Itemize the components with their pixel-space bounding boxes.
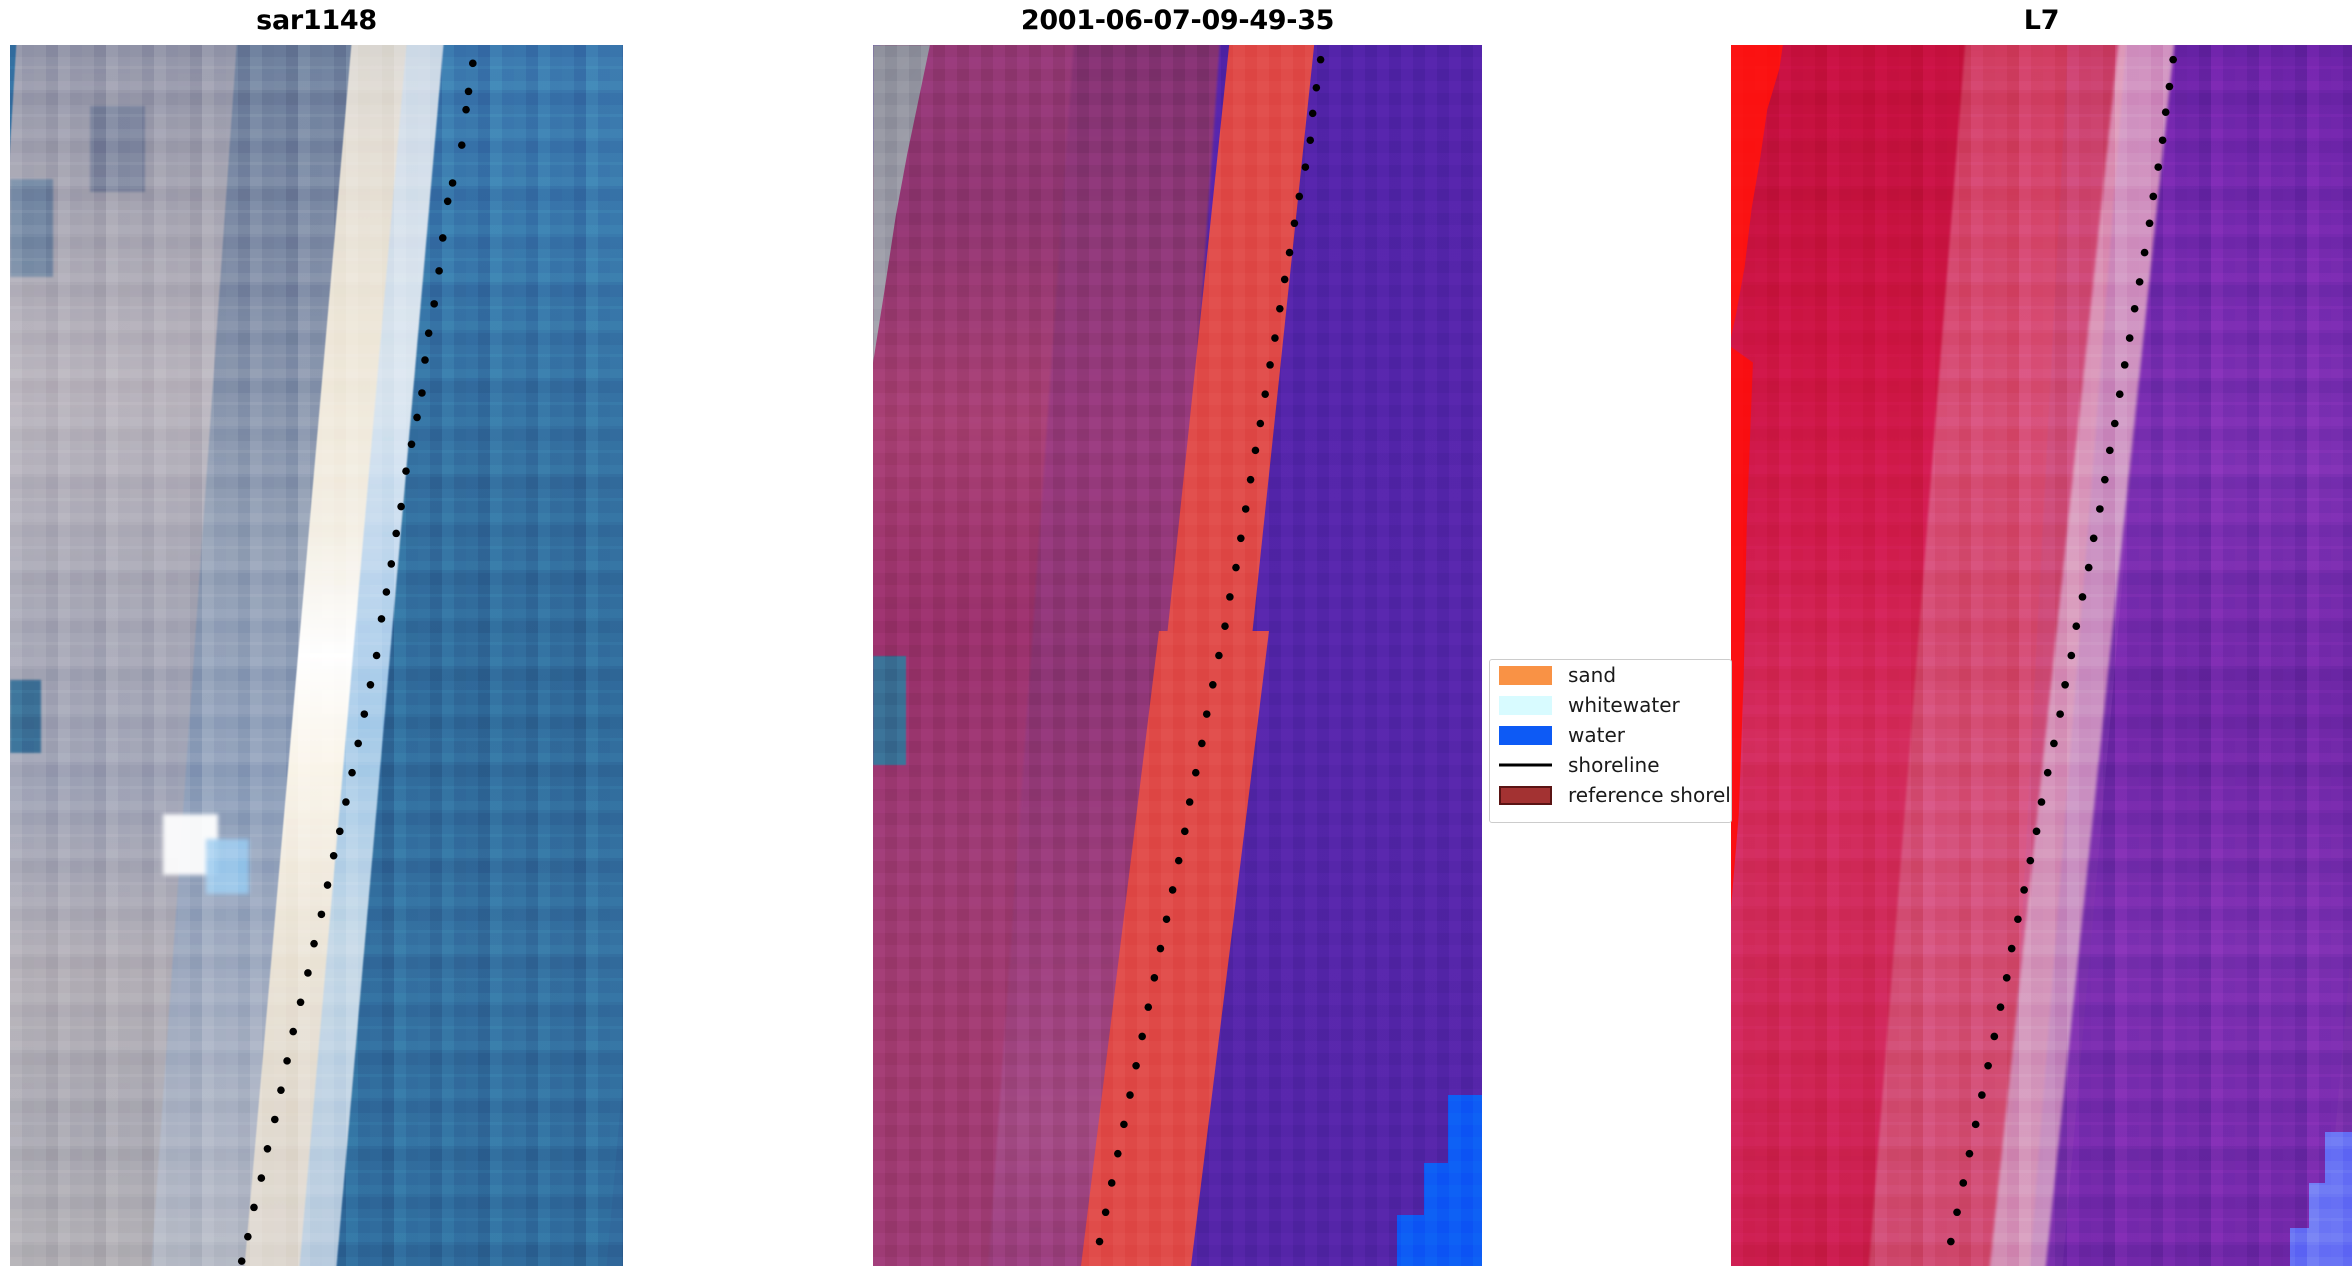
reference-shoreline-swatch-icon (1499, 786, 1552, 805)
panel-l7-title: L7 (1731, 5, 2352, 36)
sand-swatch-icon (1499, 666, 1552, 685)
shoreline-line-icon (1499, 756, 1552, 775)
pixel-grid (10, 45, 623, 1266)
legend-box[interactable]: sand whitewater water shoreline referenc… (1489, 659, 1732, 823)
legend-item-whitewater[interactable]: whitewater (1490, 690, 1731, 720)
legend-item-shoreline[interactable]: shoreline (1490, 750, 1731, 780)
figure-canvas: sar1148 2001-06-07-09-49-35 (0, 0, 2352, 1283)
panel-rgb-title: sar1148 (10, 5, 623, 36)
legend-label: water (1568, 725, 1625, 745)
panel-rgb[interactable]: sar1148 (10, 45, 623, 1266)
panel-classified[interactable]: 2001-06-07-09-49-35 (873, 45, 1482, 1266)
legend-label: whitewater (1568, 695, 1680, 715)
panel-classified-image[interactable] (873, 45, 1482, 1266)
panel-classified-title: 2001-06-07-09-49-35 (873, 5, 1482, 36)
legend-label: shoreline (1568, 755, 1660, 775)
whitewater-swatch-icon (1499, 696, 1552, 715)
legend-item-water[interactable]: water (1490, 720, 1731, 750)
legend-item-sand[interactable]: sand (1490, 660, 1731, 690)
pixel-grid (1731, 45, 2352, 1266)
panel-rgb-image[interactable] (10, 45, 623, 1266)
legend-label: reference shoreline (1568, 785, 1732, 805)
water-swatch-icon (1499, 726, 1552, 745)
pixel-grid (873, 45, 1482, 1266)
legend-label: sand (1568, 665, 1616, 685)
panel-l7-image[interactable] (1731, 45, 2352, 1266)
legend-item-reference-shoreline[interactable]: reference shoreline (1490, 780, 1731, 810)
panel-l7[interactable]: L7 (1731, 45, 2352, 1266)
